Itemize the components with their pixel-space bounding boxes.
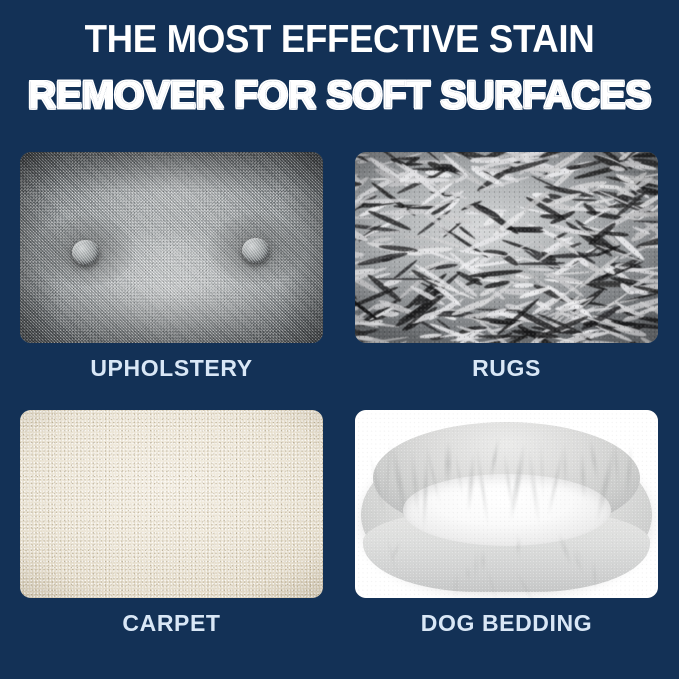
tile-caption-rugs: RUGS bbox=[355, 355, 658, 381]
dog-bed-plush-grain bbox=[355, 410, 658, 598]
headline-block: THE MOST EFFECTIVE STAIN REMOVER FOR SOF… bbox=[0, 18, 679, 118]
tile-dog-bedding: DOG BEDDING bbox=[355, 410, 658, 648]
tile-caption-upholstery: UPHOLSTERY bbox=[20, 355, 323, 381]
tile-carpet: CARPET bbox=[20, 410, 323, 648]
carpet-vignette bbox=[20, 410, 323, 598]
headline-line-1: THE MOST EFFECTIVE STAIN bbox=[20, 18, 658, 62]
rugs-image bbox=[355, 152, 658, 343]
tile-caption-carpet: CARPET bbox=[20, 610, 323, 636]
rug-vignette bbox=[355, 152, 658, 343]
tile-caption-dog-bedding: DOG BEDDING bbox=[355, 610, 658, 636]
carpet-image bbox=[20, 410, 323, 598]
upholstery-vignette bbox=[20, 152, 323, 343]
poster-root: THE MOST EFFECTIVE STAIN REMOVER FOR SOF… bbox=[0, 0, 679, 679]
headline-line-2: REMOVER FOR SOFT SURFACES bbox=[0, 74, 679, 118]
upholstery-image bbox=[20, 152, 323, 343]
tile-upholstery: UPHOLSTERY bbox=[20, 152, 323, 377]
dog-bedding-image bbox=[355, 410, 658, 598]
tile-rugs: RUGS bbox=[355, 152, 658, 377]
